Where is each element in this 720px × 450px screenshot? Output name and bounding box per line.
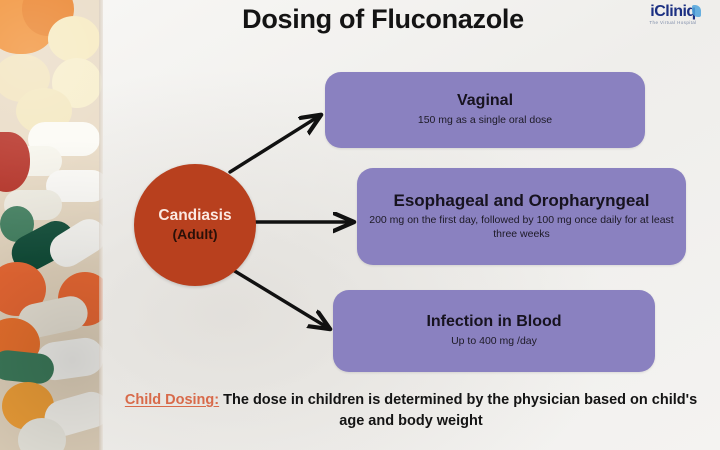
logo-wordmark: iCliniq [650,3,695,20]
arrow-to-blood [233,270,325,326]
node-candiasis-adult[interactable]: Candiasis (Adult) [134,164,256,286]
branch-detail: 150 mg as a single oral dose [418,114,552,128]
node-label-line1: Candiasis [158,207,231,225]
branch-detail: 200 mg on the first day, followed by 100… [365,214,678,242]
page-title: Dosing of Fluconazole [103,4,663,35]
branch-heading: Esophageal and Oropharyngeal [393,191,649,211]
branch-box-esophageal-oropharyngeal[interactable]: Esophageal and Oropharyngeal 200 mg on t… [357,168,686,265]
branch-heading: Vaginal [457,92,513,110]
fluconazole-dosing-infographic: Dosing of Fluconazole iCliniq The Virtua… [0,0,720,450]
logo-accent-icon [692,5,701,17]
branch-box-vaginal[interactable]: Vaginal 150 mg as a single oral dose [325,72,645,148]
child-dosing-label: Child Dosing: [125,392,219,408]
logo-tagline: The Virtual Hospital [634,21,712,26]
branch-heading: Infection in Blood [426,313,561,331]
child-dosing-text: The dose in children is determined by th… [219,392,697,429]
branch-box-infection-in-blood[interactable]: Infection in Blood Up to 400 mg /day [333,290,655,372]
node-label-line2: (Adult) [172,226,217,243]
child-dosing-note: Child Dosing: The dose in children is de… [111,390,711,432]
iCliniq-logo: iCliniq The Virtual Hospital [634,4,712,26]
pills-photo [0,0,103,450]
diagram-canvas: Dosing of Fluconazole iCliniq The Virtua… [103,0,720,450]
branch-detail: Up to 400 mg /day [451,335,537,349]
arrow-to-vaginal [230,118,316,172]
